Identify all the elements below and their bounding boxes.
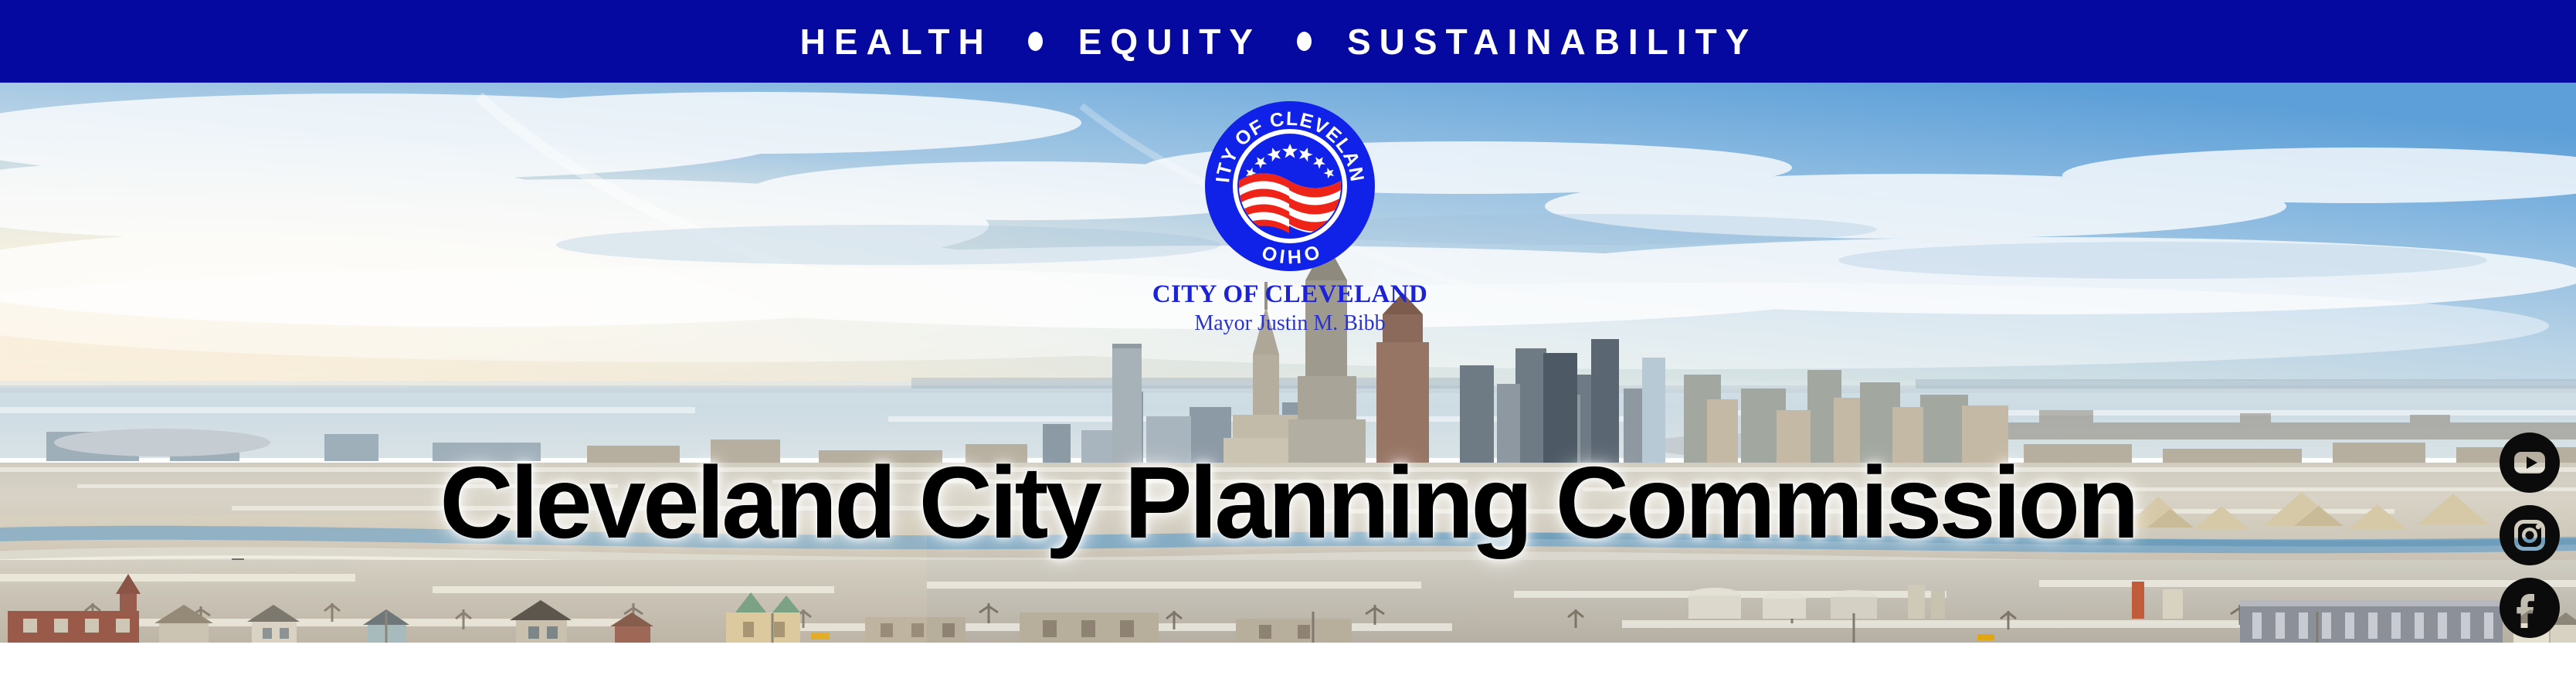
page-root: HEALTH EQUITY SUSTAINABILITY bbox=[0, 0, 2576, 682]
social-media-rail bbox=[2500, 433, 2561, 638]
modern-midrise bbox=[2240, 600, 2503, 643]
tagline-bullet-dot-2 bbox=[1297, 32, 1312, 51]
youtube-link[interactable] bbox=[2500, 433, 2560, 493]
tagline-word-health: HEALTH bbox=[800, 24, 993, 59]
org-name: CITY OF CLEVELAND bbox=[1120, 281, 1460, 308]
instagram-icon[interactable] bbox=[2500, 505, 2560, 565]
city-logo-block[interactable]: CITY OF CLEVELAND OHIO CITY OF CLEVELAND… bbox=[1120, 99, 1460, 334]
tagline-word-sustainability: SUSTAINABILITY bbox=[1347, 24, 1757, 59]
tagline-bullet-dot-1 bbox=[1028, 32, 1043, 51]
tagline-word-equity: EQUITY bbox=[1078, 24, 1261, 59]
city-of-cleveland-seal[interactable]: CITY OF CLEVELAND OHIO bbox=[1203, 99, 1377, 273]
facebook-icon[interactable] bbox=[2500, 578, 2560, 638]
page-title: Cleveland City Planning Commission bbox=[0, 452, 2576, 554]
youtube-icon[interactable] bbox=[2500, 433, 2560, 493]
tagline-bar: HEALTH EQUITY SUSTAINABILITY bbox=[0, 0, 2576, 83]
facebook-link[interactable] bbox=[2500, 578, 2560, 638]
instagram-link[interactable] bbox=[2500, 505, 2560, 565]
mayor-name: Mayor Justin M. Bibb bbox=[1120, 312, 1460, 334]
tagline-group: HEALTH EQUITY SUSTAINABILITY bbox=[800, 24, 1758, 59]
city-seal-icon: CITY OF CLEVELAND OHIO bbox=[1203, 99, 1377, 273]
